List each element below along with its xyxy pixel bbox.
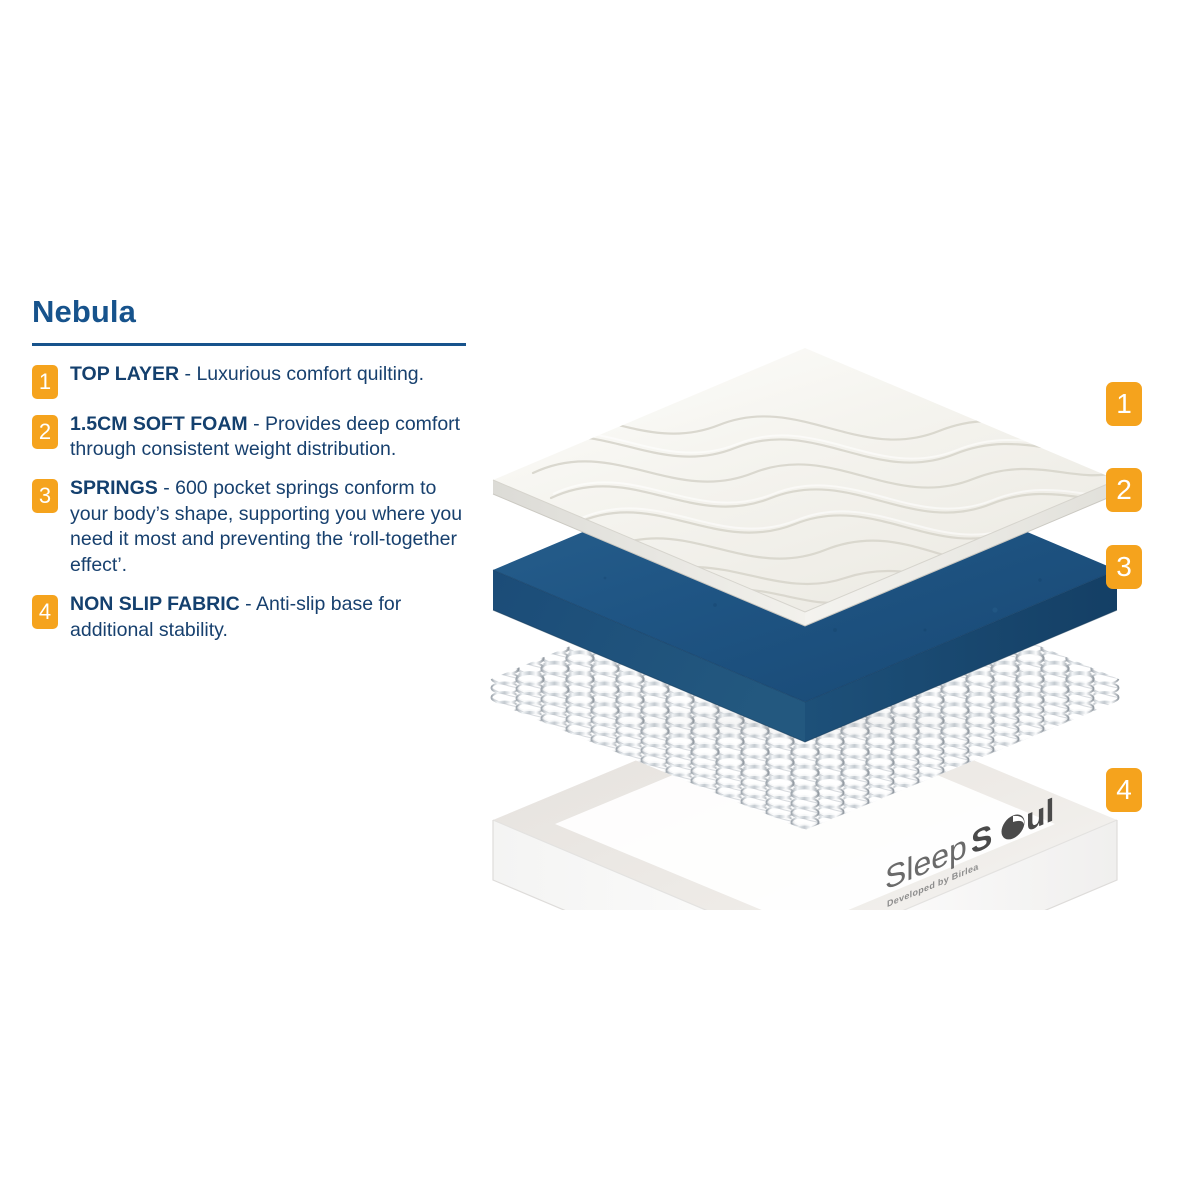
page-title: Nebula bbox=[32, 296, 472, 329]
feature-body-1: - Luxurious comfort quilting. bbox=[179, 363, 424, 385]
feature-text-3: SPRINGS - 600 pocket springs conform to … bbox=[70, 476, 466, 579]
callout-badge-2[interactable]: 2 bbox=[1106, 468, 1142, 512]
feature-badge-2: 2 bbox=[32, 415, 58, 449]
feature-lead-3: SPRINGS bbox=[70, 477, 158, 499]
callout-badge-3[interactable]: 3 bbox=[1106, 545, 1142, 589]
pocket-spring bbox=[1092, 663, 1119, 760]
feature-text-2: 1.5CM SOFT FOAM - Provides deep comfort … bbox=[70, 412, 466, 463]
feature-item-springs: 3 SPRINGS - 600 pocket springs conform t… bbox=[32, 476, 472, 579]
feature-lead-2: 1.5CM SOFT FOAM bbox=[70, 413, 248, 435]
pocket-spring bbox=[567, 695, 594, 792]
callout-badge-4[interactable]: 4 bbox=[1106, 768, 1142, 812]
feature-item-top-layer: 1 TOP LAYER - Luxurious comfort quilting… bbox=[32, 362, 472, 399]
feature-text-1: TOP LAYER - Luxurious comfort quilting. bbox=[70, 362, 424, 388]
feature-badge-1: 1 bbox=[32, 365, 58, 399]
pocket-spring bbox=[517, 674, 544, 771]
feature-lead-1: TOP LAYER bbox=[70, 363, 179, 385]
page-root: Nebula 1 TOP LAYER - Luxurious comfort q… bbox=[0, 0, 1200, 1200]
pocket-spring bbox=[542, 684, 569, 781]
feature-lead-4: NON SLIP FABRIC bbox=[70, 593, 240, 615]
feature-badge-3: 3 bbox=[32, 479, 58, 513]
pocket-spring bbox=[1042, 684, 1069, 781]
feature-item-soft-foam: 2 1.5CM SOFT FOAM - Provides deep comfor… bbox=[32, 412, 472, 463]
pocket-spring bbox=[1017, 695, 1044, 792]
exploded-mattress-diagram: Sleep S ul Developed by Birlea bbox=[455, 330, 1155, 910]
pocket-spring bbox=[492, 663, 519, 760]
feature-text-4: NON SLIP FABRIC - Anti-slip base for add… bbox=[70, 592, 466, 643]
feature-item-non-slip-fabric: 4 NON SLIP FABRIC - Anti-slip base for a… bbox=[32, 592, 472, 643]
title-divider bbox=[32, 343, 466, 346]
product-info-panel: Nebula 1 TOP LAYER - Luxurious comfort q… bbox=[32, 296, 472, 656]
feature-badge-4: 4 bbox=[32, 595, 58, 629]
callout-badge-1[interactable]: 1 bbox=[1106, 382, 1142, 426]
pocket-spring bbox=[1067, 674, 1094, 771]
